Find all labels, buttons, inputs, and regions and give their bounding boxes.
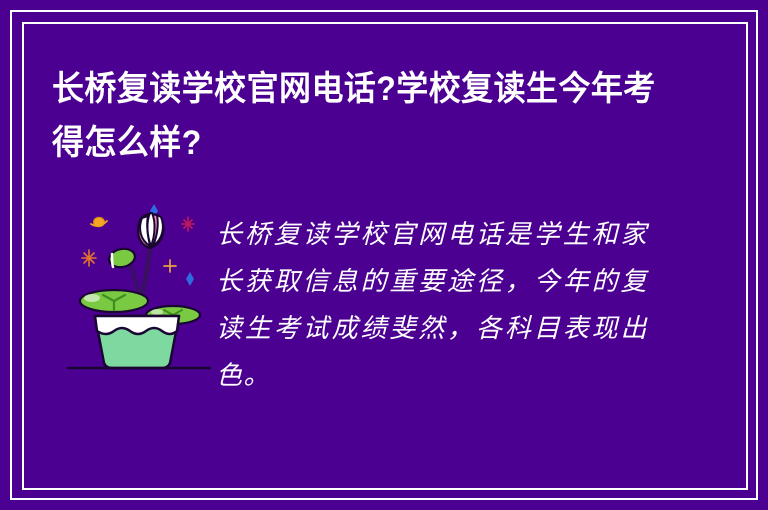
article-body: 长桥复读学校官网电话是学生和家长获取信息的重要途径，今年的复读生考试成绩斐然，各… [216,212,648,400]
lily-pad-leaf-left [80,290,148,312]
potted-tulip-plant-illustration [62,198,214,373]
tulip-flower [138,213,163,248]
diamond-sparkle-blue-bottom [186,272,194,286]
starburst-sparkle-orange [82,250,96,266]
article-card: 长桥复读学校官网电话?学校复读生今年考得怎么样? [0,0,768,510]
flower-pot [95,316,179,368]
cross-sparkle-orange [164,260,176,272]
page-title: 长桥复读学校官网电话?学校复读生今年考得怎么样? [52,62,672,170]
starburst-sparkle-pink [182,217,194,231]
planet-sparkle [91,217,107,227]
